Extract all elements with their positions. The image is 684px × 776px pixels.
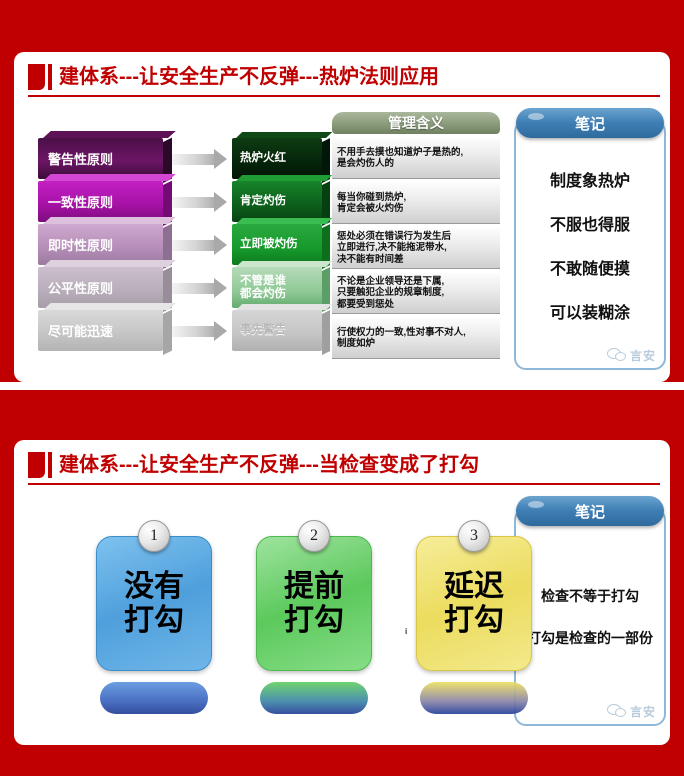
slide-1-title-row: 建体系---让安全生产不反弹---热炉法则应用 [28,64,439,90]
note-line: 制度象热炉 [550,167,630,191]
principle-label: 公平性原则 [48,278,113,297]
meaning-line: 制度如炉 [337,338,495,350]
watermark-text: 言安 [630,347,656,364]
card-early-checkmark[interactable]: 提前 打勾 [256,536,372,671]
card-line-1: 提前 [284,570,344,604]
card-number-badge: 1 [138,520,170,552]
principle-box-3[interactable]: 即时性原则 [38,224,163,265]
meaning-line: 是会灼伤人的 [337,158,495,170]
card-no-checkmark[interactable]: 没有 打勾 [96,536,212,671]
card-line-1: 没有 [124,570,184,604]
stove-effect-line: 都会灼伤 [240,288,322,301]
principle-label: 一致性原则 [48,192,113,211]
card-line-2: 打勾 [124,604,184,638]
principles-column: 警告性原则 一致性原则 即时性原则 公平性原则 尽可能迅速 [38,138,163,353]
principle-box-2[interactable]: 一致性原则 [38,181,163,222]
page-title: 建体系---让安全生产不反弹---当检查变成了打勾 [59,452,479,478]
meaning-row: 每当你碰到热炉, 肯定会被火灼伤 [332,183,500,224]
principle-label: 即时性原则 [48,235,113,254]
slide-2: 建体系---让安全生产不反弹---当检查变成了打勾 1 没有 打勾 2 提前 [14,440,670,745]
slide-2-title-row: 建体系---让安全生产不反弹---当检查变成了打勾 [28,452,479,478]
stove-effect-line: 事先警告 [240,324,322,337]
principle-label: 警告性原则 [48,149,113,168]
stove-effect-box-4[interactable]: 不管是谁 都会灼伤 [232,267,322,308]
meaning-row: 不论是企业领导还是下属, 只要触犯企业的规章制度, 都要受到惩处 [332,273,500,314]
stove-effect-box-5[interactable]: 事先警告 [232,310,322,351]
card-reflection [420,682,528,714]
meaning-line: 不用手去摸也知道炉子是热的, [337,147,495,159]
arrow-right-icon-2 [172,197,214,208]
stove-effect-box-3[interactable]: 立即被灼伤 [232,224,322,265]
meaning-line: 立即进行,决不能拖泥带水, [337,242,495,254]
title-flag-icon [28,64,45,90]
slide-separator [0,382,684,390]
title-flag-icon [28,452,45,478]
note-line: 可以装糊涂 [550,299,630,323]
principle-box-1[interactable]: 警告性原则 [38,138,163,179]
stove-effect-line: 肯定灼伤 [240,195,322,208]
title-underline [28,95,660,97]
stove-effects-column: 热炉火红 肯定灼伤 立即被灼伤 不管是谁 都会灼伤 事先警告 [232,138,322,353]
card-late-checkmark[interactable]: i 延迟 打勾 [416,536,532,671]
wechat-logo-icon [607,704,627,719]
meaning-line: 肯定会被火灼伤 [337,203,495,215]
note-line: 不服也得服 [550,211,630,235]
notes-body: 制度象热炉 不服也得服 不敢随便摸 可以装糊涂 [516,144,664,346]
principle-label: 尽可能迅速 [48,321,113,340]
slide-1: 建体系---让安全生产不反弹---热炉法则应用 警告性原则 一致性原则 即时性原… [14,52,670,382]
notes-header: 笔记 [516,108,664,138]
meaning-row: 行使权力的一致,性对事不对人, 制度如炉 [332,318,500,359]
page-title: 建体系---让安全生产不反弹---热炉法则应用 [59,64,439,90]
card-line-2: 打勾 [284,604,344,638]
arrow-right-icon-1 [172,154,214,165]
arrows-column [172,138,232,353]
card-tiny-mark: i [405,615,407,649]
note-line: 打勾是检查的一部份 [527,628,653,648]
notes-panel-2: 笔记 检查不等于打勾 打勾是检查的一部份 言安 [514,508,666,726]
meaning-line: 不论是企业领导还是下属, [337,276,495,288]
meaning-line: 都要受到惩处 [337,299,495,311]
meaning-line: 只要触犯企业的规章制度, [337,287,495,299]
arrow-right-icon-5 [172,326,214,337]
notes-panel-1: 笔记 制度象热炉 不服也得服 不敢随便摸 可以装糊涂 言安 [514,120,666,370]
stove-effect-box-2[interactable]: 肯定灼伤 [232,181,322,222]
stove-effect-box-1[interactable]: 热炉火红 [232,138,322,179]
meaning-column: 管理含义 不用手去摸也知道炉子是热的, 是会灼伤人的 每当你碰到热炉, 肯定会被… [332,112,500,359]
note-line: 不敢随便摸 [550,255,630,279]
arrow-right-icon-4 [172,283,214,294]
meaning-header: 管理含义 [332,112,500,134]
principle-box-4[interactable]: 公平性原则 [38,267,163,308]
meaning-row: 不用手去摸也知道炉子是热的, 是会灼伤人的 [332,138,500,179]
card-number-badge: 2 [298,520,330,552]
stove-effect-line: 热炉火红 [240,152,322,165]
title-underline [28,483,660,485]
card-reflection [260,682,368,714]
card-line-1: 延迟 [444,570,504,604]
meaning-line: 决不能有时间差 [337,254,495,266]
note-line: 检查不等于打勾 [541,586,639,606]
meaning-line: 行使权力的一致,性对事不对人, [337,327,495,339]
watermark-1: 言安 [607,347,656,364]
card-number-badge: 3 [458,520,490,552]
arrow-right-icon-3 [172,240,214,251]
title-divider [48,64,52,90]
principle-box-5[interactable]: 尽可能迅速 [38,310,163,351]
slide-deck-page: 建体系---让安全生产不反弹---热炉法则应用 警告性原则 一致性原则 即时性原… [0,0,684,776]
card-line-2: 打勾 [444,604,504,638]
meaning-line: 惩处必须在错误行为发生后 [337,231,495,243]
watermark-2: 言安 [607,703,656,720]
stove-effect-line: 不管是谁 [240,275,322,288]
wechat-logo-icon [607,348,627,363]
notes-header: 笔记 [516,496,664,526]
notes-body: 检查不等于打勾 打勾是检查的一部份 [516,532,664,702]
meaning-row: 惩处必须在错误行为发生后 立即进行,决不能拖泥带水, 决不能有时间差 [332,228,500,269]
meaning-line: 每当你碰到热炉, [337,192,495,204]
watermark-text: 言安 [630,703,656,720]
title-divider [48,452,52,478]
card-reflection [100,682,208,714]
stove-effect-line: 立即被灼伤 [240,238,322,251]
